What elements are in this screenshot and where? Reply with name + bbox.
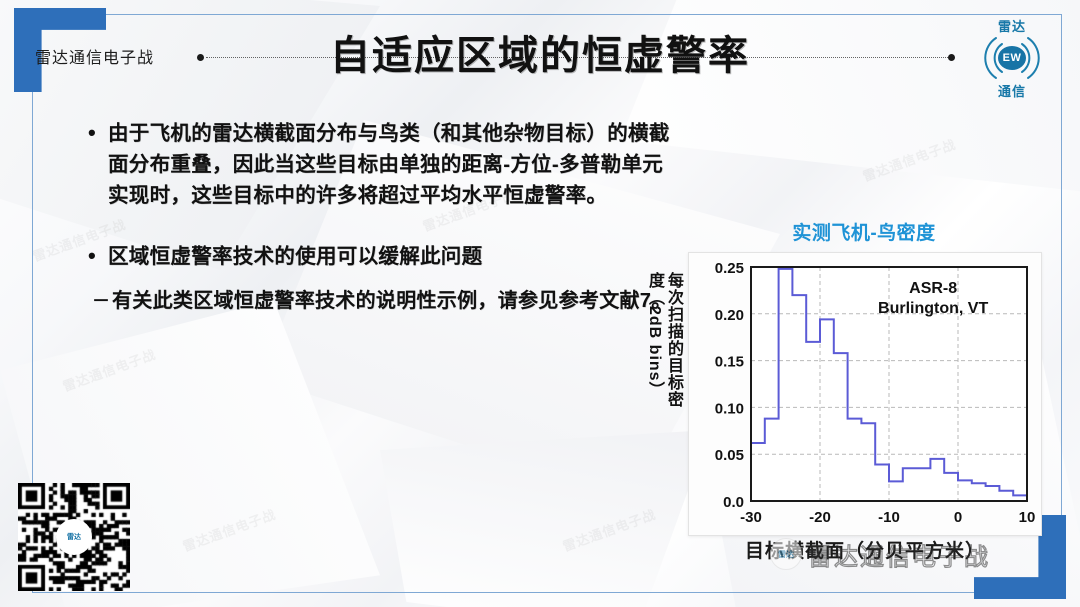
bullet-text: 由于飞机的雷达横截面分布与鸟类（和其他杂物目标）的横截面分布重叠，因此当这些目标… [108,118,678,211]
bullet-marker: • [88,241,108,272]
content-bullet-list: • 由于飞机的雷达横截面分布与鸟类（和其他杂物目标）的横截面分布重叠，因此当这些… [88,118,678,331]
svg-text:0.10: 0.10 [715,400,744,417]
y-axis-label-col2: 度（2dB bins） [645,272,663,522]
qr-code[interactable]: 雷达 [18,483,130,591]
svg-text:0.20: 0.20 [715,307,744,324]
bullet-text: 区域恒虚警率技术的使用可以缓解此问题 [108,241,482,272]
svg-text:0.15: 0.15 [715,354,744,371]
bullet-marker: － [92,286,112,317]
svg-text:ASR-8: ASR-8 [909,280,957,297]
logo-badge-ew: EW [998,46,1026,70]
page-watermark: 雷达通信电子战 [60,344,159,395]
svg-text:10: 10 [1019,509,1036,526]
chart-title: 实测飞机-鸟密度 [690,218,1038,245]
svg-text:0.25: 0.25 [715,260,744,277]
histogram-plot: 0.00.050.100.150.200.25-30-20-10010ASR-8… [689,253,1041,535]
slide-root: 雷达通信电子战 雷达通信电子战 雷达通信电子战 雷达通信电子战 雷达通信电子战 … [0,0,1080,607]
bullet-marker: • [88,118,108,211]
y-axis-label-col1: 每次扫描的目标密 [664,272,682,522]
list-item: • 区域恒虚警率技术的使用可以缓解此问题 [88,241,678,272]
svg-text:-10: -10 [878,509,900,526]
svg-text:-20: -20 [809,509,831,526]
bullet-text: 有关此类区域恒虚警率技术的说明性示例，请参见参考文献7。 [112,286,672,317]
svg-text:-30: -30 [740,509,762,526]
page-watermark: 雷达通信电子战 [860,134,959,185]
list-item: • 由于飞机的雷达横截面分布与鸟类（和其他杂物目标）的横截面分布重叠，因此当这些… [88,118,678,211]
brand-logo: 雷达 EW 通信 [966,16,1058,100]
logo-bottom-label: 通信 [966,81,1058,100]
page-title: 自适应区域的恒虚警率 [0,23,1080,81]
page-watermark: 雷达通信电子战 [180,504,279,555]
svg-text:Burlington, VT: Burlington, VT [878,300,988,317]
list-item: － 有关此类区域恒虚警率技术的说明性示例，请参见参考文献7。 [92,286,678,317]
slide-header: 雷达通信电子战 自适应区域的恒虚警率 雷达 EW 通信 [0,0,1080,105]
chart-panel: 0.00.050.100.150.200.25-30-20-10010ASR-8… [688,252,1042,536]
qr-center-logo: 雷达 [56,519,92,555]
chart-y-axis-label: 每次扫描的目标密 度（2dB bins） [624,272,682,522]
svg-text:0.05: 0.05 [715,447,744,464]
svg-text:0: 0 [954,509,962,526]
chart-x-axis-label: 目标横截面（分贝平方米） [690,536,1040,563]
